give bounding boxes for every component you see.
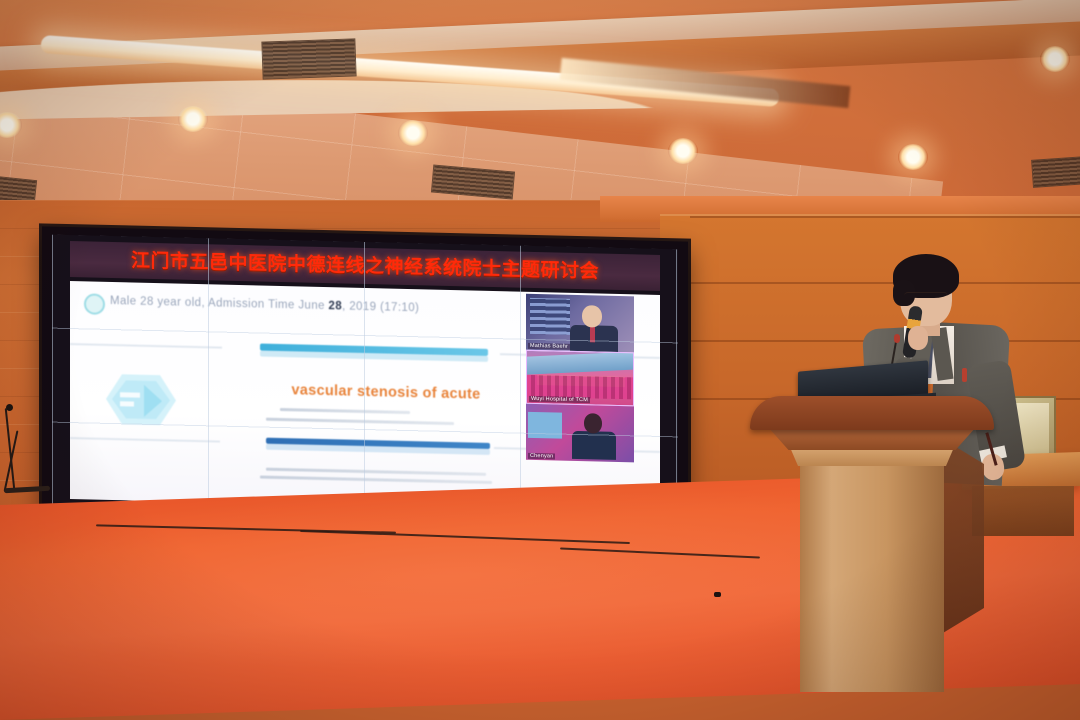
patient-header-suffix: , 2019 (17:10) xyxy=(342,300,419,314)
downlight-6 xyxy=(1040,46,1070,72)
slide-footnote-1 xyxy=(266,468,486,476)
patient-header-prefix: Male 28 year old, Admission Time June xyxy=(110,295,328,312)
video-tile-3[interactable]: Chenyan xyxy=(526,404,634,463)
conference-hall-photo: 江门市五邑中医院中德连线之神经系统院士主题研讨会 Male 28 year ol… xyxy=(0,0,1080,720)
mic-stand-knob xyxy=(6,404,13,411)
presenter-hand-left xyxy=(908,326,928,350)
video-tile-2-name: Wuyi Hospital of TCM xyxy=(529,396,590,403)
ceiling-vent-upper xyxy=(261,38,356,79)
slide-rule-left-1 xyxy=(70,343,222,349)
slide-orange-heading: vascular stenosis of acute xyxy=(256,381,516,403)
floor-cable-plug xyxy=(714,592,721,597)
slide-faint-line-1 xyxy=(280,408,410,414)
hexagon-logo-icon xyxy=(104,370,178,430)
slide-footnote-2 xyxy=(260,476,492,484)
video-tile-1[interactable]: Mathias Baehr xyxy=(526,294,634,353)
video-call-panel[interactable]: Mathias Baehr Wuyi Hospital of TCM Cheny… xyxy=(526,294,634,463)
participant-3-head xyxy=(584,413,602,433)
downlight-5 xyxy=(898,144,928,170)
lectern-side-panel xyxy=(938,436,984,636)
video-tile-1-name: Mathias Baehr xyxy=(528,343,570,350)
patient-header-line: Male 28 year old, Admission Time June 28… xyxy=(110,295,419,314)
participant-3-monitor xyxy=(528,412,562,439)
lectern-top xyxy=(750,396,994,430)
slide-faint-line-2 xyxy=(266,418,454,425)
lectern-column xyxy=(800,464,944,692)
video-tile-3-name: Chenyan xyxy=(528,453,555,460)
bookshelf-background xyxy=(530,298,570,335)
participant-1-head xyxy=(582,305,602,327)
participant-3-torso xyxy=(572,431,616,460)
downlight-4 xyxy=(668,138,698,164)
participant-1-tie xyxy=(590,326,595,342)
presenter-glasses xyxy=(904,292,948,302)
slide-rule-left-2 xyxy=(70,437,220,443)
downlight-2 xyxy=(178,106,208,132)
ceiling-vent-right-edge xyxy=(1031,156,1080,188)
video-tile-2[interactable]: Wuyi Hospital of TCM xyxy=(526,350,634,407)
downlight-3 xyxy=(398,120,428,146)
gooseneck-mic-head xyxy=(894,334,900,343)
lectern xyxy=(742,372,1002,720)
patient-header-day: 28 xyxy=(328,300,342,312)
bullet-icon xyxy=(84,293,105,314)
wall-seam-4 xyxy=(690,216,1080,218)
auditorium-ceiling xyxy=(527,352,634,375)
